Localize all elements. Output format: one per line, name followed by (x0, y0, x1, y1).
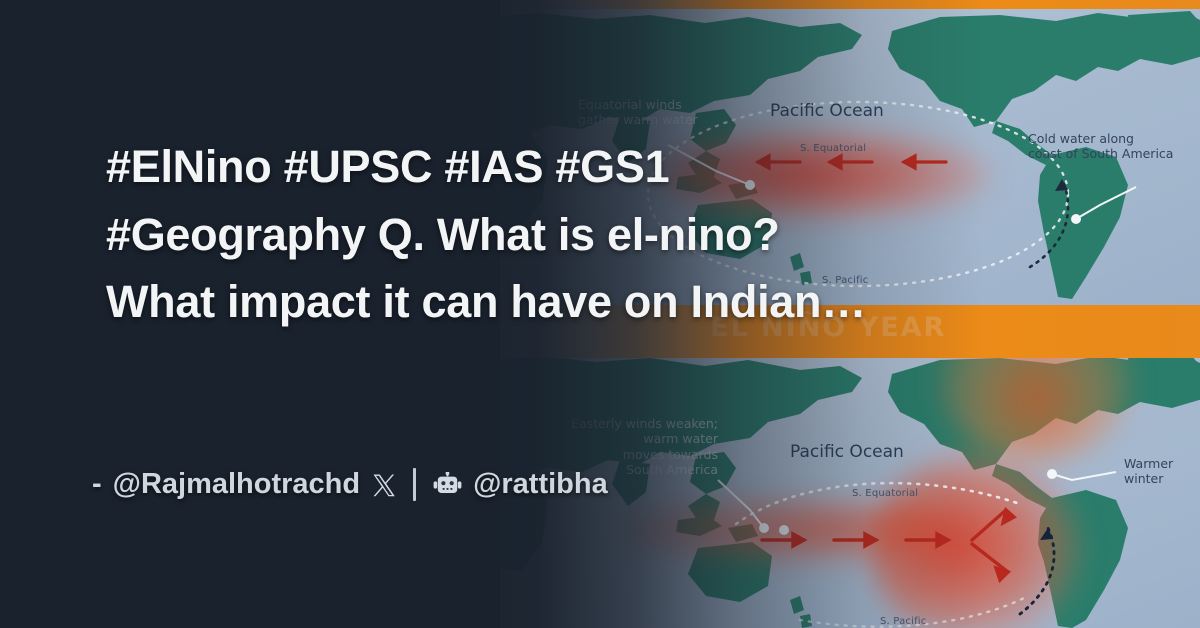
robot-icon (433, 472, 463, 498)
card-content: #ElNino #UPSC #IAS #GS1 #Geography Q. Wh… (0, 0, 1200, 628)
attribution-dash: - (92, 468, 102, 501)
platform-handle[interactable]: @rattibha (473, 468, 608, 501)
attribution-separator (413, 468, 416, 501)
x-logo-icon (372, 473, 396, 497)
social-card: Equatorial winds gather warm water Pacif… (0, 0, 1200, 628)
author-handle[interactable]: @Rajmalhotrachd (113, 468, 360, 501)
card-attribution: - @Rajmalhotrachd (92, 468, 608, 501)
card-headline: #ElNino #UPSC #IAS #GS1 #Geography Q. Wh… (106, 133, 1106, 336)
